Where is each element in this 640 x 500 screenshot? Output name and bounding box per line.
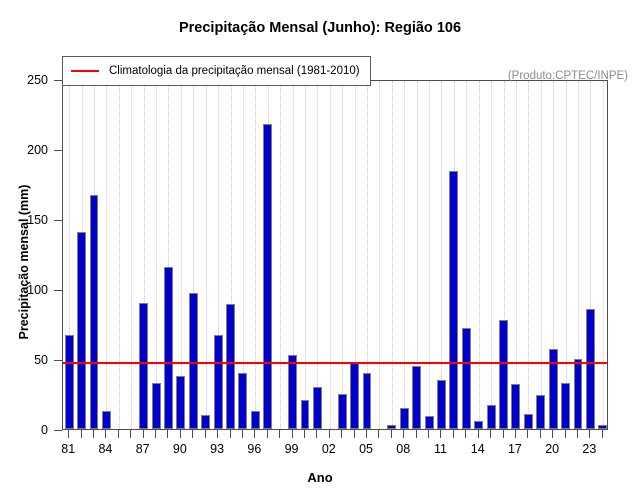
gridline [317,81,319,429]
x-tick-mark [503,430,504,438]
gridline [206,81,208,429]
gridline [528,81,530,429]
gridline [379,81,381,429]
bar-08 [400,408,409,429]
x-tick-mark [378,430,379,438]
bar-00 [301,400,310,429]
bar-81 [65,335,74,429]
gridline [541,81,543,429]
x-tick-label: 11 [420,442,460,456]
x-tick-label: 99 [272,442,312,456]
bar-11 [437,380,446,429]
bar-24 [598,425,607,429]
x-tick-label: 20 [532,442,572,456]
bar-82 [77,232,86,429]
bar-89 [164,267,173,429]
source-annotation: (Produto:CPTEC/INPE) [508,70,628,82]
y-tick-mark [54,290,62,291]
bar-22 [574,359,583,429]
x-tick-mark [242,430,243,438]
x-tick-mark [130,430,131,438]
gridline [603,81,605,429]
x-tick-mark [391,430,392,438]
gridline [516,81,518,429]
bar-14 [474,421,483,429]
x-tick-mark [316,430,317,438]
x-tick-mark [527,430,528,438]
x-tick-mark [540,430,541,438]
x-tick-label: 90 [160,442,200,456]
x-tick-mark [589,430,590,438]
legend-label-climatology: Climatologia da precipitação mensal (198… [109,65,360,77]
x-tick-mark [230,430,231,438]
x-tick-mark [354,430,355,438]
gridline [429,81,431,429]
bar-87 [139,303,148,429]
bar-10 [425,416,434,429]
y-tick-label: 250 [14,73,48,87]
gridline [305,81,307,429]
gridline [566,81,568,429]
legend: Climatologia da precipitação mensal (198… [62,56,371,86]
x-tick-mark [118,430,119,438]
x-tick-label: 02 [309,442,349,456]
gridline [156,81,158,429]
x-tick-mark [602,430,603,438]
bar-16 [499,320,508,429]
bar-92 [201,415,210,429]
y-tick-mark [54,150,62,151]
x-tick-label: 81 [48,442,88,456]
x-tick-mark [416,430,417,438]
bar-04 [350,362,359,429]
bar-94 [226,304,235,429]
bar-96 [251,411,260,429]
gridline [479,81,481,429]
x-tick-mark [254,430,255,438]
bar-99 [288,355,297,429]
x-tick-mark [577,430,578,438]
bar-13 [462,328,471,429]
x-tick-mark [552,430,553,438]
bar-19 [536,395,545,429]
y-tick-mark [54,360,62,361]
climatology-reference-line [63,362,607,364]
x-tick-mark [304,430,305,438]
legend-line-swatch-climatology [71,70,99,72]
x-tick-mark [167,430,168,438]
x-tick-mark [403,430,404,438]
x-tick-mark [267,430,268,438]
bar-17 [511,384,520,429]
x-tick-mark [478,430,479,438]
x-tick-mark [217,430,218,438]
x-tick-mark [155,430,156,438]
x-tick-mark [440,430,441,438]
x-tick-mark [180,430,181,438]
x-tick-mark [205,430,206,438]
x-axis-label: Ano [0,470,640,485]
x-tick-label: 23 [569,442,609,456]
bar-90 [176,376,185,429]
bar-83 [90,195,99,429]
x-tick-label: 17 [495,442,535,456]
x-tick-mark [81,430,82,438]
page-title: Precipitação Mensal (Junho): Região 106 [0,20,640,36]
x-tick-label: 93 [197,442,237,456]
y-tick-mark [54,220,62,221]
x-tick-mark [428,430,429,438]
bar-12 [449,171,458,429]
x-tick-label: 05 [346,442,386,456]
y-tick-mark [54,80,62,81]
bar-05 [363,373,372,429]
x-tick-mark [490,430,491,438]
x-tick-mark [68,430,69,438]
bar-01 [313,387,322,429]
x-tick-mark [292,430,293,438]
bar-23 [586,309,595,429]
gridline [280,81,282,429]
bar-95 [238,373,247,429]
x-tick-mark [279,430,280,438]
x-tick-label: 14 [458,442,498,456]
x-tick-mark [465,430,466,438]
x-tick-mark [565,430,566,438]
gridline [392,81,394,429]
gridline [342,81,344,429]
bar-03 [338,394,347,429]
gridline [491,81,493,429]
x-tick-mark [341,430,342,438]
precipitation-bar-chart: Precipitação Mensal (Junho): Região 106 … [0,0,640,500]
bar-07 [387,425,396,429]
y-tick-label: 0 [14,423,48,437]
x-tick-mark [192,430,193,438]
bar-97 [263,124,272,429]
x-tick-mark [143,430,144,438]
bar-88 [152,383,161,429]
x-tick-mark [329,430,330,438]
x-tick-mark [515,430,516,438]
gridline [106,81,108,429]
plot-area [62,80,608,430]
x-tick-mark [93,430,94,438]
bar-15 [487,405,496,429]
bar-93 [214,335,223,429]
y-axis-label: Precipitação mensal (mm) [17,152,31,372]
y-tick-mark [54,430,62,431]
gridline [404,81,406,429]
x-tick-label: 87 [123,442,163,456]
x-tick-mark [366,430,367,438]
x-tick-label: 96 [234,442,274,456]
bar-18 [524,414,533,429]
bar-21 [561,383,570,429]
bar-84 [102,411,111,429]
x-tick-mark [105,430,106,438]
gridline [330,81,332,429]
x-tick-mark [453,430,454,438]
gridline [131,81,133,429]
gridline [119,81,121,429]
bar-09 [412,366,421,429]
x-tick-label: 08 [383,442,423,456]
gridline [255,81,257,429]
x-tick-label: 84 [85,442,125,456]
gridline [441,81,443,429]
